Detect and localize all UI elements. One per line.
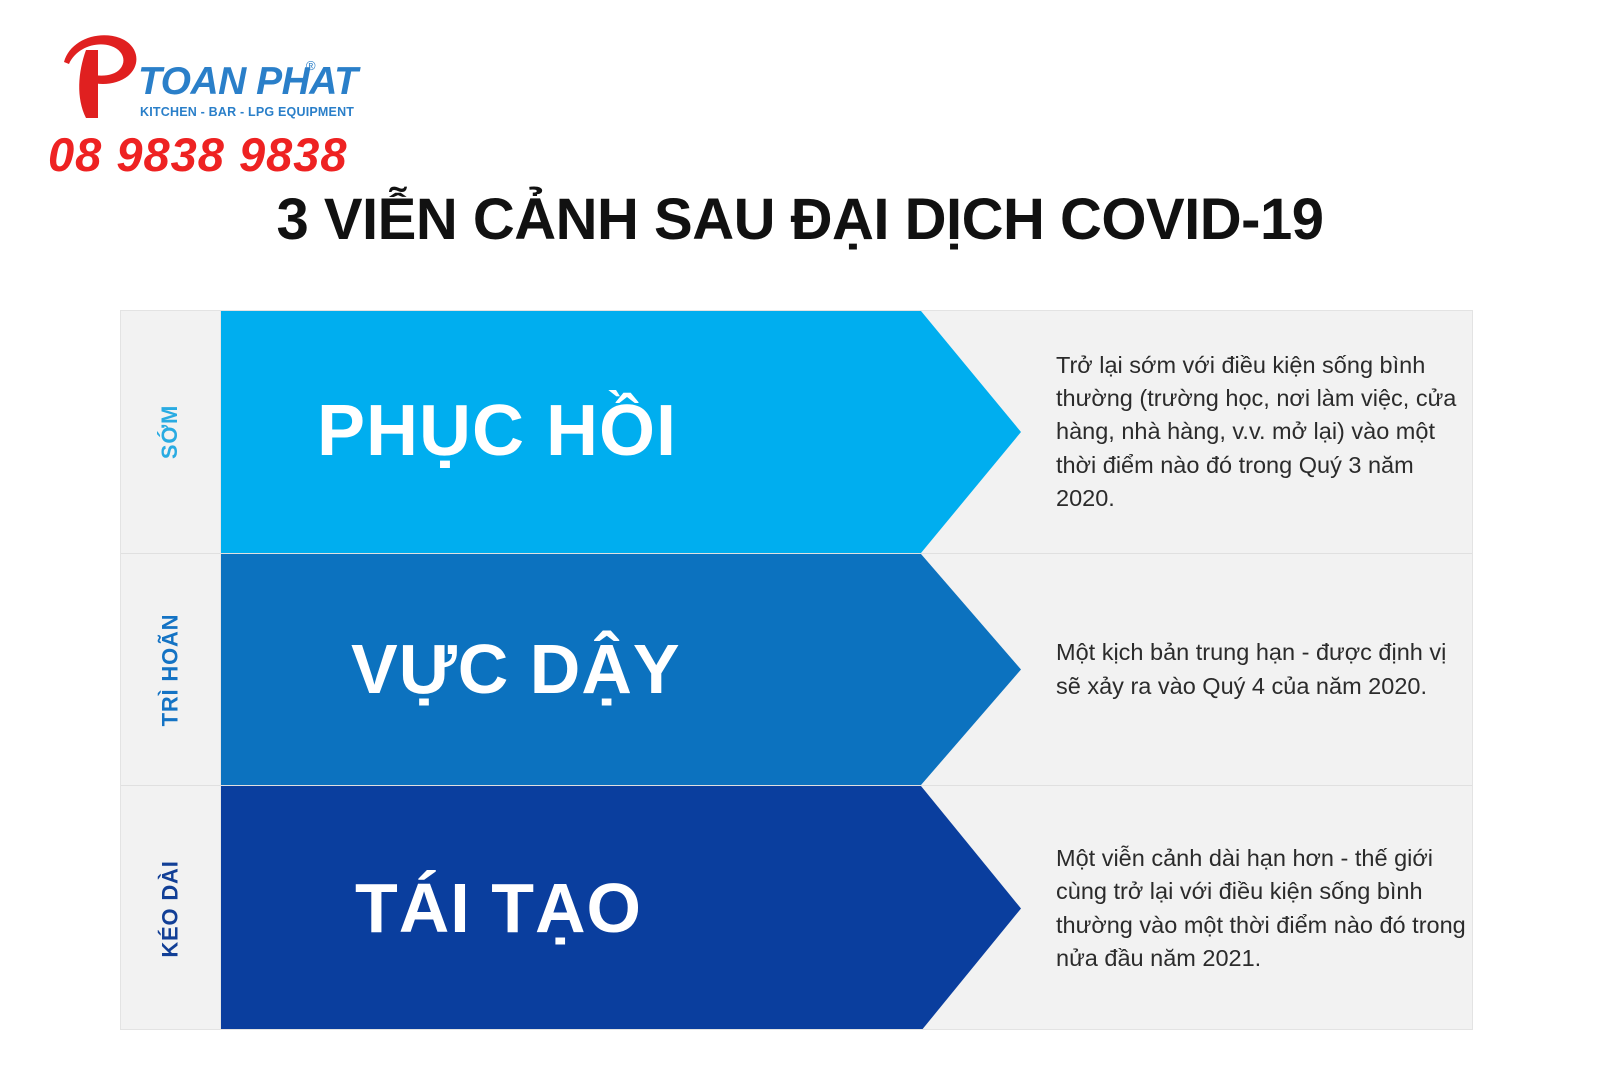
stage-label-text: TRÌ HOÃN [158,613,184,726]
stage-label-som: SỚM [121,311,221,553]
scenario-description-text: Một viễn cảnh dài hạn hơn - thế giới cùn… [1056,842,1473,975]
contact-phone-number: 08 9838 9838 [48,131,348,178]
brand-mark: TOAN PHAT ® KITCHEN - BAR - LPG EQUIPMEN… [48,34,388,116]
brand-tagline: KITCHEN - BAR - LPG EQUIPMENT [140,105,354,119]
brand-wordmark: TOAN PHAT [138,62,357,101]
scenario-arrow-title: VỰC DẬY [351,633,681,707]
stage-label-tri-hoan: TRÌ HOÃN [121,554,221,785]
scenario-description-block: Trở lại sớm với điều kiện sống bình thườ… [1056,311,1473,553]
scenario-description-block: Một kịch bản trung hạn - được định vị sẽ… [1056,554,1473,785]
registered-trademark-icon: ® [306,58,316,73]
infographic-canvas: TOAN PHAT ® KITCHEN - BAR - LPG EQUIPMEN… [0,0,1600,1067]
scenarios-panel: SỚM PHỤC HỒI Trở lại sớm với điều kiện s… [120,310,1473,1030]
scenario-arrow-title: PHỤC HỒI [317,394,677,470]
scenario-description-text: Một kịch bản trung hạn - được định vị sẽ… [1056,636,1473,703]
scenario-arrow-vuc-day: VỰC DẬY [221,554,1021,785]
scenario-arrow-title: TÁI TẠO [355,872,642,946]
stage-label-text: KÉO DÀI [158,860,184,957]
scenario-row: KÉO DÀI TÁI TẠO Một viễn cảnh dài hạn hơ… [121,786,1473,1030]
scenario-description-block: Một viễn cảnh dài hạn hơn - thế giới cùn… [1056,786,1473,1030]
page-title: 3 VIỄN CẢNH SAU ĐẠI DỊCH COVID-19 [0,186,1600,253]
toan-phat-p-swoosh-icon [56,32,146,120]
scenario-row: SỚM PHỤC HỒI Trở lại sớm với điều kiện s… [121,311,1473,554]
scenario-arrow-tai-tao: TÁI TẠO [221,786,1021,1030]
brand-block: TOAN PHAT ® KITCHEN - BAR - LPG EQUIPMEN… [48,34,388,116]
stage-label-keo-dai: KÉO DÀI [121,786,221,1030]
stage-label-text: SỚM [157,405,183,459]
scenario-arrow-phuc-hoi: PHỤC HỒI [221,311,1021,553]
scenario-description-text: Trở lại sớm với điều kiện sống bình thườ… [1056,349,1473,516]
scenario-row: TRÌ HOÃN VỰC DẬY Một kịch bản trung hạn … [121,554,1473,786]
